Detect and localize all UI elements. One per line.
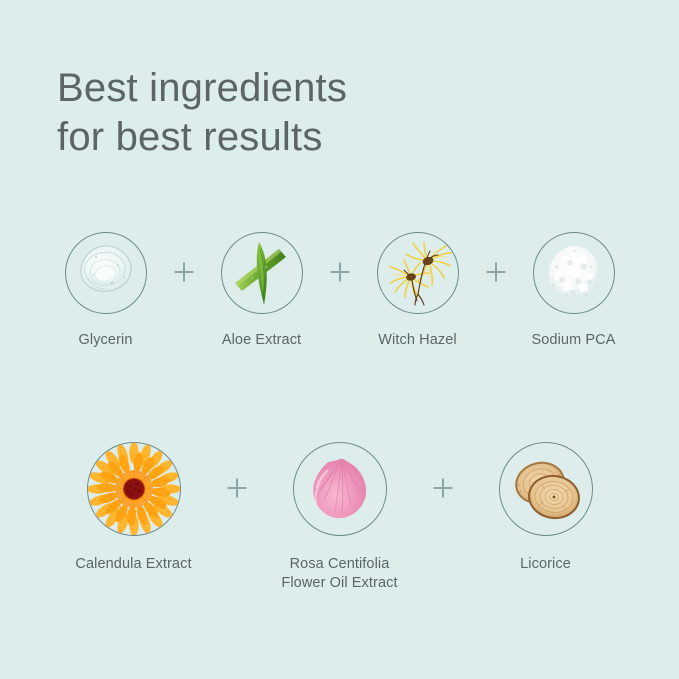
sodium-pca-powder-icon bbox=[534, 233, 614, 313]
rose-petal-icon bbox=[294, 443, 386, 535]
ingredient-rosa-centifolia: Rosa Centifolia Flower Oil Extract bbox=[265, 442, 415, 593]
calendula-flower-icon bbox=[88, 443, 180, 535]
ingredient-label: Calendula Extract bbox=[75, 555, 191, 574]
page-title-line-2: for best results bbox=[57, 113, 617, 162]
plus-separator-3 bbox=[477, 232, 515, 312]
ingredient-label: Sodium PCA bbox=[531, 331, 615, 350]
aloe-extract-circle bbox=[221, 232, 303, 314]
glycerin-gel-icon bbox=[66, 233, 146, 313]
licorice-circle bbox=[499, 442, 593, 536]
rosa-centifolia-circle bbox=[293, 442, 387, 536]
ingredient-calendula-extract: Calendula Extract bbox=[59, 442, 209, 574]
ingredient-row-1: Glycerin bbox=[0, 232, 679, 350]
sodium-pca-circle bbox=[533, 232, 615, 314]
ingredient-label: Licorice bbox=[520, 555, 571, 574]
ingredient-glycerin: Glycerin bbox=[47, 232, 165, 350]
plus-separator-1 bbox=[165, 232, 203, 312]
ingredient-aloe-extract: Aloe Extract bbox=[203, 232, 321, 350]
ingredient-row-2: Calendula Extract bbox=[0, 442, 679, 593]
ingredient-witch-hazel: Witch Hazel bbox=[359, 232, 477, 350]
plus-separator-4 bbox=[209, 442, 265, 534]
glycerin-circle bbox=[65, 232, 147, 314]
ingredient-label: Aloe Extract bbox=[222, 331, 301, 350]
ingredient-label: Glycerin bbox=[79, 331, 133, 350]
aloe-leaf-icon bbox=[222, 233, 302, 313]
witch-hazel-flower-icon bbox=[378, 233, 458, 313]
ingredient-infographic-panel: Best ingredients for best results bbox=[0, 0, 679, 679]
ingredient-licorice: Licorice bbox=[471, 442, 621, 574]
ingredient-label: Rosa Centifolia Flower Oil Extract bbox=[281, 555, 397, 593]
plus-separator-2 bbox=[321, 232, 359, 312]
ingredient-sodium-pca: Sodium PCA bbox=[515, 232, 633, 350]
licorice-root-icon bbox=[500, 443, 592, 535]
plus-separator-5 bbox=[415, 442, 471, 534]
page-title: Best ingredients for best results bbox=[57, 64, 617, 162]
witch-hazel-circle bbox=[377, 232, 459, 314]
ingredient-label: Witch Hazel bbox=[378, 331, 456, 350]
calendula-extract-circle bbox=[87, 442, 181, 536]
page-title-line-1: Best ingredients bbox=[57, 64, 617, 113]
